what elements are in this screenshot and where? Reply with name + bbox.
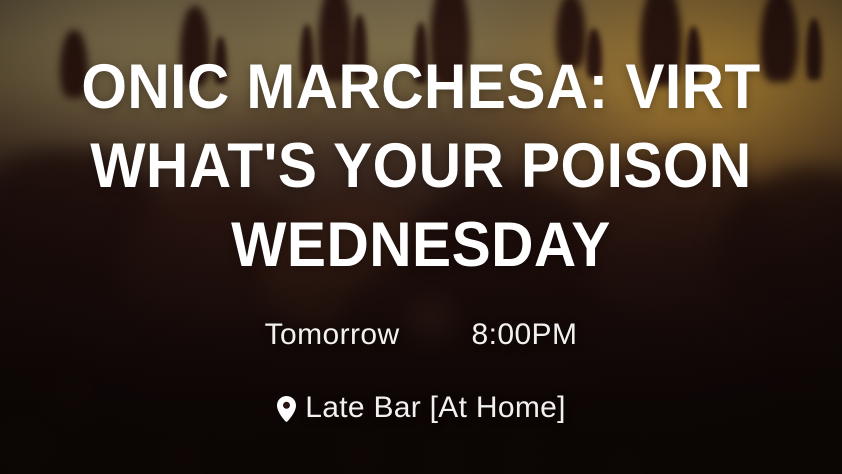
event-promo-card: ONIC MARCHESA: VIRT WHAT'S YOUR POISON W… bbox=[0, 0, 842, 474]
headline-line-2: WHAT'S YOUR POISON bbox=[29, 136, 812, 196]
map-pin-icon bbox=[276, 395, 296, 423]
headline-line-3: WEDNESDAY bbox=[29, 215, 812, 275]
event-time-label: 8:00PM bbox=[472, 318, 578, 352]
venue-name: Late Bar [At Home] bbox=[305, 391, 566, 425]
schedule-row: Tomorrow 8:00PM bbox=[0, 318, 842, 352]
promo-content: ONIC MARCHESA: VIRT WHAT'S YOUR POISON W… bbox=[0, 0, 842, 474]
venue-row: Late Bar [At Home] bbox=[0, 391, 842, 425]
event-day-label: Tomorrow bbox=[265, 318, 400, 352]
headline-line-1: ONIC MARCHESA: VIRT bbox=[29, 57, 812, 117]
